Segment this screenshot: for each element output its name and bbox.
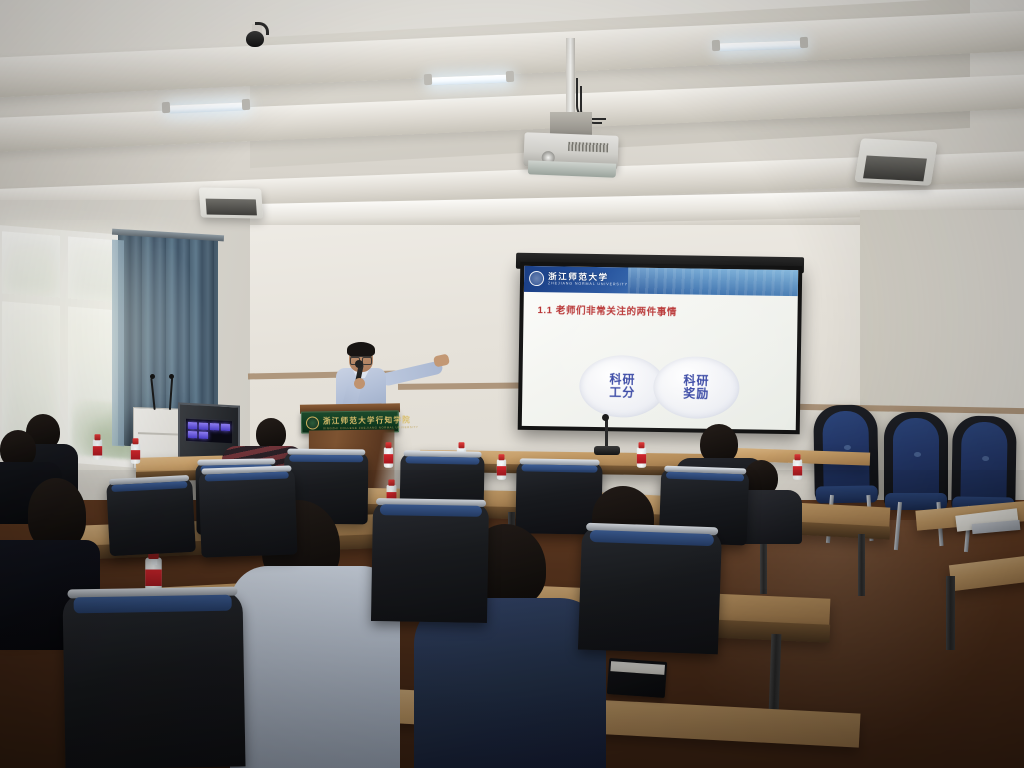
speaker-grille (206, 199, 257, 215)
classroom-photo-scene: 浙江师范大学 ZHEJIANG NORMAL UNIVERSITY 1.1 老师… (0, 0, 1024, 768)
slide-banner: 浙江师范大学 ZHEJIANG NORMAL UNIVERSITY (524, 266, 798, 296)
chair-back-foreground (62, 590, 245, 768)
chair-back (199, 468, 298, 557)
presenter-mic-hand (354, 378, 365, 389)
chair-upholstery-trim (522, 464, 598, 472)
bottle-cap (386, 442, 392, 448)
presenter-hair (347, 342, 375, 357)
bottle-label (793, 466, 802, 475)
bottle-label (93, 446, 102, 455)
light-bracket (162, 102, 170, 113)
bottle-label (384, 454, 393, 463)
curtain-edge (112, 240, 124, 447)
chair-upholstery-trim (380, 504, 482, 517)
led-segment (188, 422, 197, 429)
chair-upholstery-trim (204, 472, 289, 482)
led-segment (221, 424, 230, 431)
led-segment (210, 423, 219, 430)
venn-circle-right: 科研 奖励 (653, 356, 740, 419)
banner-campus-photo (628, 267, 798, 296)
venn-left-line2: 工分 (609, 386, 635, 399)
slide-title: 1.1 老师们非常关注的两件事情 (537, 302, 677, 318)
projector-vent (568, 142, 608, 153)
desk-leg (946, 576, 955, 650)
bottle-cap (639, 442, 645, 448)
microphone-head-icon (169, 374, 174, 379)
chair-upholstery-trim (73, 595, 232, 614)
chair-back-midground (578, 526, 722, 655)
water-bottle (384, 442, 393, 468)
bottle-cap (388, 480, 394, 486)
bottle-label (637, 454, 646, 463)
light-bracket (712, 40, 720, 51)
slide-surface: 浙江师范大学 ZHEJIANG NORMAL UNIVERSITY 1.1 老师… (522, 266, 798, 430)
light-bracket (506, 71, 514, 82)
venn-diagram: 科研 工分 科研 奖励 (579, 355, 740, 420)
window-pane (2, 231, 60, 298)
water-bottle (793, 454, 802, 480)
bottle-cap (95, 434, 101, 440)
light-bracket (424, 74, 432, 85)
chair-back (106, 478, 196, 556)
desk-leg (858, 534, 865, 596)
microphone-head-icon (602, 414, 609, 421)
venn-circle-left-label: 科研 工分 (609, 373, 635, 399)
chair-upholstery-trim (666, 472, 744, 482)
attendee-body (414, 598, 606, 768)
wall-speaker-left (199, 187, 263, 218)
venn-circle-right-label: 科研 奖励 (683, 374, 709, 400)
empty-chair-right-3 (951, 415, 1017, 512)
chair-upholstery-trim (405, 456, 479, 464)
led-segment (188, 431, 197, 438)
bottle-cap (795, 454, 801, 460)
bottle-label (497, 466, 506, 475)
bottle-cap (133, 438, 139, 444)
chair-upholstery (893, 418, 939, 499)
light-bracket (800, 37, 808, 48)
university-emblem-icon (529, 271, 544, 286)
chair-upholstery-trim (289, 455, 363, 463)
water-bottle (93, 434, 102, 460)
microphone-base (594, 446, 620, 455)
bottle-cap (459, 442, 465, 448)
microphone-head-icon (355, 360, 363, 368)
empty-chair-right-2 (884, 412, 948, 508)
chair-back-midground (371, 501, 489, 623)
projection-screen: 浙江师范大学 ZHEJIANG NORMAL UNIVERSITY 1.1 老师… (518, 262, 803, 434)
light-bracket (242, 99, 250, 110)
black-notebook (607, 658, 667, 698)
venn-right-line2: 奖励 (683, 387, 709, 400)
projector-pole (566, 38, 575, 116)
gooseneck-microphone (605, 418, 608, 448)
notebook-page (610, 661, 665, 675)
lectern-sign-text: 浙江师范大学行知学院 XINGZHI COLLEGE ZHEJIANG NORM… (323, 414, 419, 430)
led-segment (199, 422, 208, 429)
bottle-label (131, 450, 140, 459)
water-bottle (497, 454, 506, 480)
chair-upholstery (960, 421, 1007, 502)
security-camera-icon (246, 31, 264, 47)
university-emblem-icon (306, 416, 319, 429)
water-bottle (637, 442, 646, 468)
microphone-head-icon (150, 374, 155, 379)
bottle-label (145, 570, 162, 587)
wall-speaker-right (854, 138, 937, 185)
rack-led-display (186, 419, 232, 443)
water-bottle (145, 549, 162, 594)
projector-bracket (550, 112, 592, 136)
led-segment (199, 431, 208, 438)
slide-university-name-en: ZHEJIANG NORMAL UNIVERSITY (548, 281, 628, 286)
bottle-cap (499, 454, 505, 460)
speaker-grille (863, 155, 928, 181)
water-bottle (131, 438, 140, 464)
